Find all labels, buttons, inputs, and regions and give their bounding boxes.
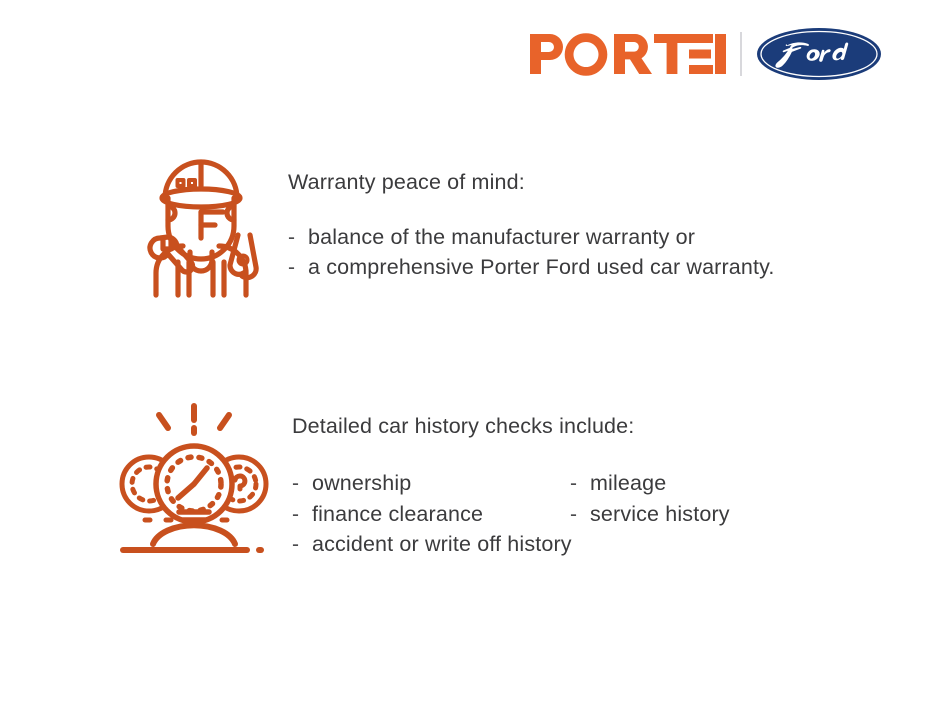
- bullet-label: service history: [590, 499, 730, 530]
- bullet-item: - a comprehensive Porter Ford used car w…: [288, 252, 775, 282]
- bullet-row: - ownership - mileage: [292, 468, 730, 499]
- bullet-label: ownership: [312, 468, 411, 499]
- bullet-dash: -: [570, 469, 590, 499]
- ford-oval-logo: [756, 27, 882, 81]
- bullet-label: a comprehensive Porter Ford used car war…: [308, 252, 775, 282]
- warranty-heading: Warranty peace of mind:: [288, 170, 775, 196]
- bullet-dash: -: [292, 500, 312, 530]
- bullet-row: - accident or write off history: [292, 529, 730, 560]
- warranty-bullet-list: - balance of the manufacturer warranty o…: [288, 222, 775, 283]
- bullet-item: - accident or write off history: [292, 529, 572, 560]
- mechanic-icon-slot: [118, 140, 283, 300]
- bullet-dash: -: [292, 469, 312, 499]
- bullet-item: - ownership: [292, 468, 570, 499]
- bullet-item: - balance of the manufacturer warranty o…: [288, 222, 775, 252]
- warranty-text-block: Warranty peace of mind: - balance of the…: [288, 140, 775, 283]
- bullet-dash: -: [288, 253, 308, 282]
- bullet-label: finance clearance: [312, 499, 483, 530]
- history-heading: Detailed car history checks include:: [292, 414, 730, 440]
- bullet-dash: -: [292, 530, 312, 560]
- logo-divider: [740, 32, 742, 76]
- dashboard-gauges-icon: [109, 392, 279, 562]
- bullet-row: - finance clearance - service history: [292, 499, 730, 530]
- section-warranty: Warranty peace of mind: - balance of the…: [118, 140, 775, 300]
- history-text-block: Detailed car history checks include: - o…: [292, 392, 730, 560]
- bullet-item: - finance clearance: [292, 499, 570, 530]
- bullet-label: accident or write off history: [312, 529, 572, 560]
- history-bullet-list: - ownership - mileage - finance clearanc…: [292, 468, 730, 560]
- bullet-dash: -: [570, 500, 590, 530]
- dashboard-gauges-icon-slot: [104, 392, 284, 562]
- bullet-item: - service history: [570, 499, 730, 530]
- section-history-checks: Detailed car history checks include: - o…: [104, 392, 730, 562]
- bullet-dash: -: [288, 223, 308, 252]
- bullet-label: balance of the manufacturer warranty or: [308, 222, 695, 252]
- bullet-label: mileage: [590, 468, 666, 499]
- mechanic-icon: [126, 140, 276, 300]
- brand-logo-lockup: [530, 22, 890, 86]
- porter-wordmark: [530, 32, 726, 76]
- bullet-item: - mileage: [570, 468, 666, 499]
